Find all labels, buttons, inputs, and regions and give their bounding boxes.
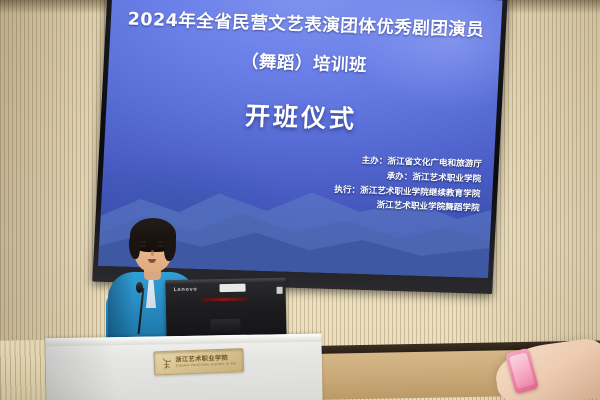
photo-scene: 2024年全省民营文艺表演团体优秀剧团演员 （舞蹈）培训班 开班仪式 主办：浙江… — [0, 0, 600, 400]
screen-title-line-1: 2024年全省民营文艺表演团体优秀剧团演员 — [110, 5, 501, 42]
academy-logo-icon — [161, 356, 172, 369]
speaker-eyebrow-left — [139, 241, 146, 243]
speaker-hair-left — [129, 232, 140, 259]
monitor-icon: Lenovo — [165, 278, 286, 342]
speaker-hair-right — [164, 232, 176, 261]
speaker-eye-left — [140, 245, 146, 247]
podium-shadow — [45, 337, 116, 400]
podium: 浙江艺术职业学院 ZHEJIANG VOCATIONAL ACADEMY OF … — [45, 334, 322, 400]
speaker-nose — [151, 250, 154, 256]
screen-main-heading: 开班仪式 — [105, 92, 497, 140]
monitor-sticker — [219, 284, 245, 293]
speaker-eyebrow-right — [157, 241, 164, 243]
screen-title-line-2: （舞蹈）培训班 — [108, 44, 499, 81]
smartphone-screen — [509, 352, 535, 389]
podium-nameplate: 浙江艺术职业学院 ZHEJIANG VOCATIONAL ACADEMY OF … — [153, 348, 244, 375]
nameplate-english-text: ZHEJIANG VOCATIONAL ACADEMY OF ART — [176, 363, 237, 368]
microphone-icon — [136, 282, 143, 293]
monitor-red-strip — [202, 298, 248, 302]
monitor-corner-tag — [277, 287, 283, 294]
monitor-brand-label: Lenovo — [174, 287, 198, 293]
speaker-role: speaker-at-podium — [106, 218, 107, 219]
screen-credits: 主办：浙江省文化广电和旅游厅 承办：浙江艺术职业学院 执行：浙江艺术职业学院继续… — [333, 153, 482, 217]
speaker-eye-right — [157, 245, 163, 247]
